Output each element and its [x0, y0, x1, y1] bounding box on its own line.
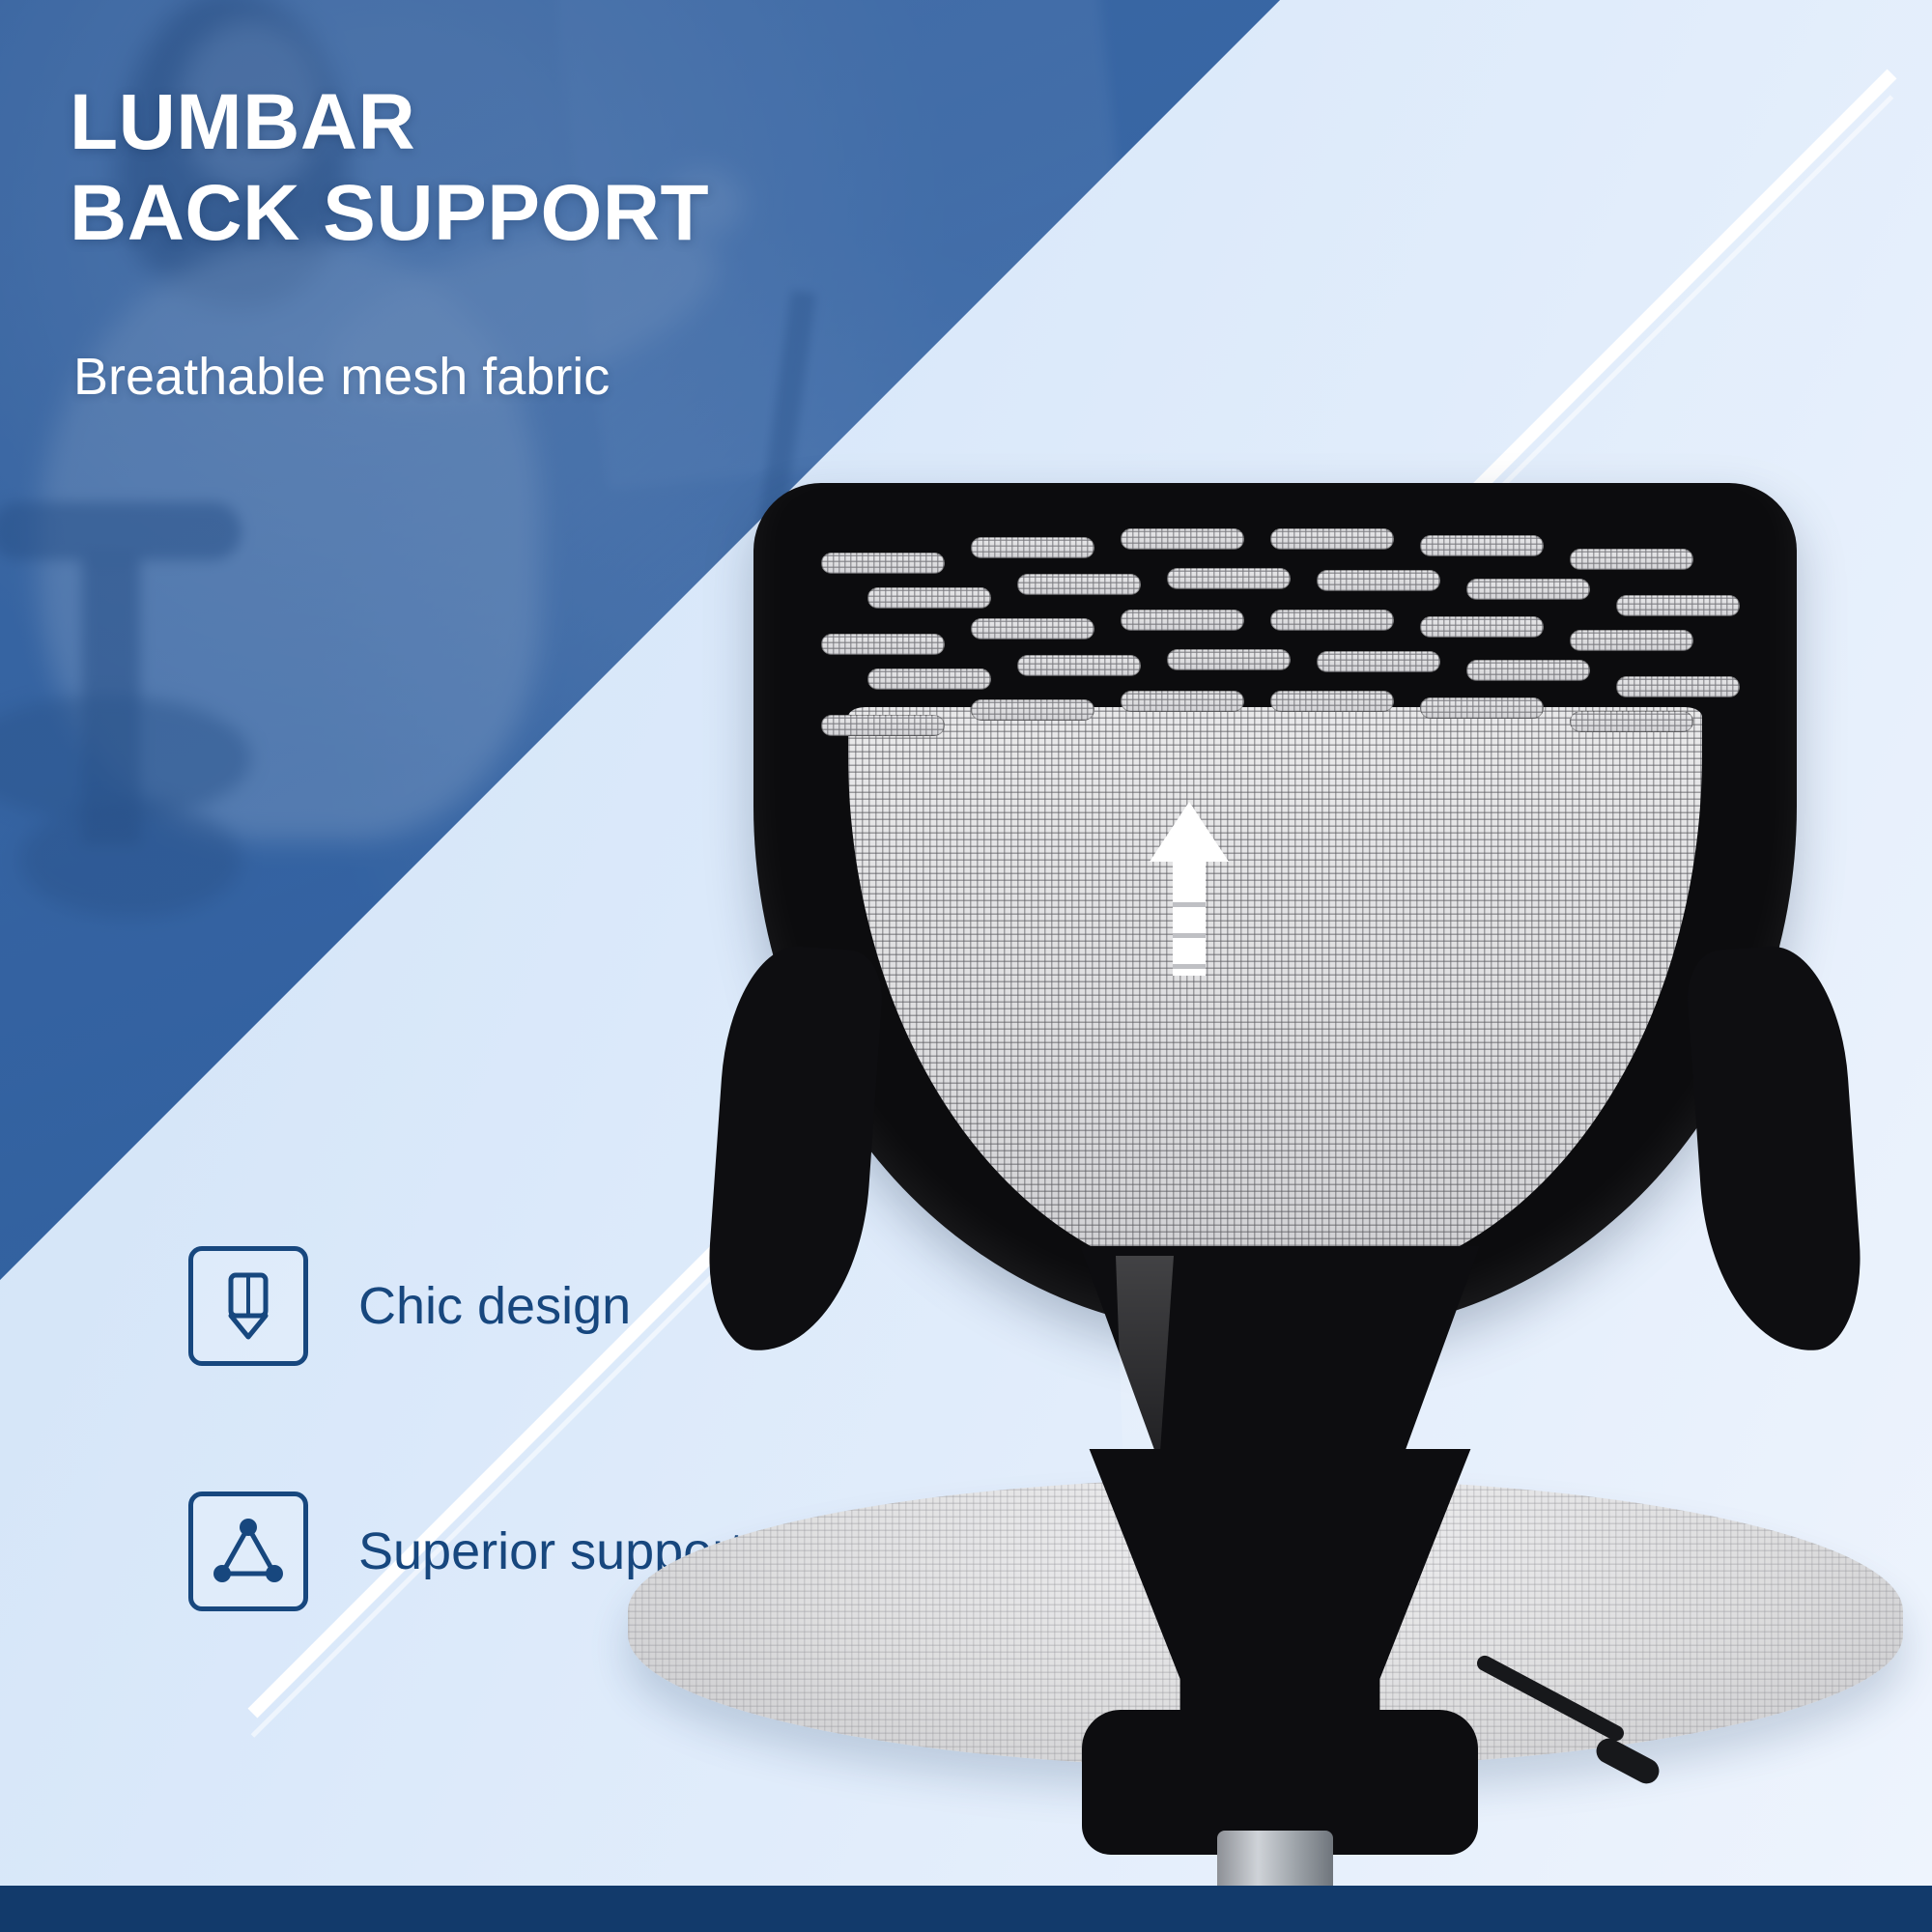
product-image-mesh-chair — [734, 483, 1835, 1932]
arrow-notch — [1173, 902, 1206, 907]
vent-slat — [1420, 535, 1544, 556]
vent-slat — [867, 587, 991, 609]
arrow-notch — [1173, 964, 1206, 969]
subheadline: Breathable mesh fabric — [73, 348, 610, 406]
vent-slat — [1270, 691, 1394, 712]
vent-slat — [1270, 528, 1394, 550]
arrow-body — [1173, 860, 1206, 976]
vent-slat — [1570, 711, 1693, 732]
vent-slat — [821, 553, 945, 574]
vent-slat — [1121, 610, 1244, 631]
vent-slat — [1466, 579, 1590, 600]
vent-slat — [1317, 651, 1440, 672]
vent-slat — [1017, 655, 1141, 676]
upward-arrow-indicator — [1150, 802, 1229, 976]
arrow-head — [1150, 802, 1229, 862]
feature-label: Chic design — [358, 1276, 631, 1336]
headline-block: LUMBAR BACK SUPPORT — [70, 77, 709, 259]
vent-slat — [1616, 676, 1740, 697]
triangle-nodes-icon — [188, 1492, 308, 1611]
promo-banner: LUMBAR BACK SUPPORT Breathable mesh fabr… — [0, 0, 1932, 1932]
vent-slat — [1570, 549, 1693, 570]
vent-slat — [1167, 649, 1291, 670]
headline-line-1: LUMBAR — [70, 77, 709, 168]
vent-slat — [1420, 697, 1544, 719]
pencil-square-icon — [188, 1246, 308, 1366]
vent-slat — [1570, 630, 1693, 651]
headline-line-2: BACK SUPPORT — [70, 168, 709, 259]
vent-slat — [971, 537, 1094, 558]
vent-slat — [1121, 691, 1244, 712]
vent-slat — [1317, 570, 1440, 591]
vent-slat — [971, 618, 1094, 639]
vent-slat — [1017, 574, 1141, 595]
feature-item: Chic design — [188, 1246, 744, 1366]
vent-slat — [821, 715, 945, 736]
vent-slat — [821, 634, 945, 655]
vent-slat — [1420, 616, 1544, 638]
vent-slat — [971, 699, 1094, 721]
vent-slat — [1167, 568, 1291, 589]
vent-slat — [1270, 610, 1394, 631]
vent-slat — [1121, 528, 1244, 550]
vent-slat — [1616, 595, 1740, 616]
vent-slat — [867, 668, 991, 690]
arrow-notch — [1173, 933, 1206, 938]
chair-vent-grille — [821, 527, 1719, 750]
vent-slat — [1466, 660, 1590, 681]
bottom-accent-bar — [0, 1886, 1932, 1932]
